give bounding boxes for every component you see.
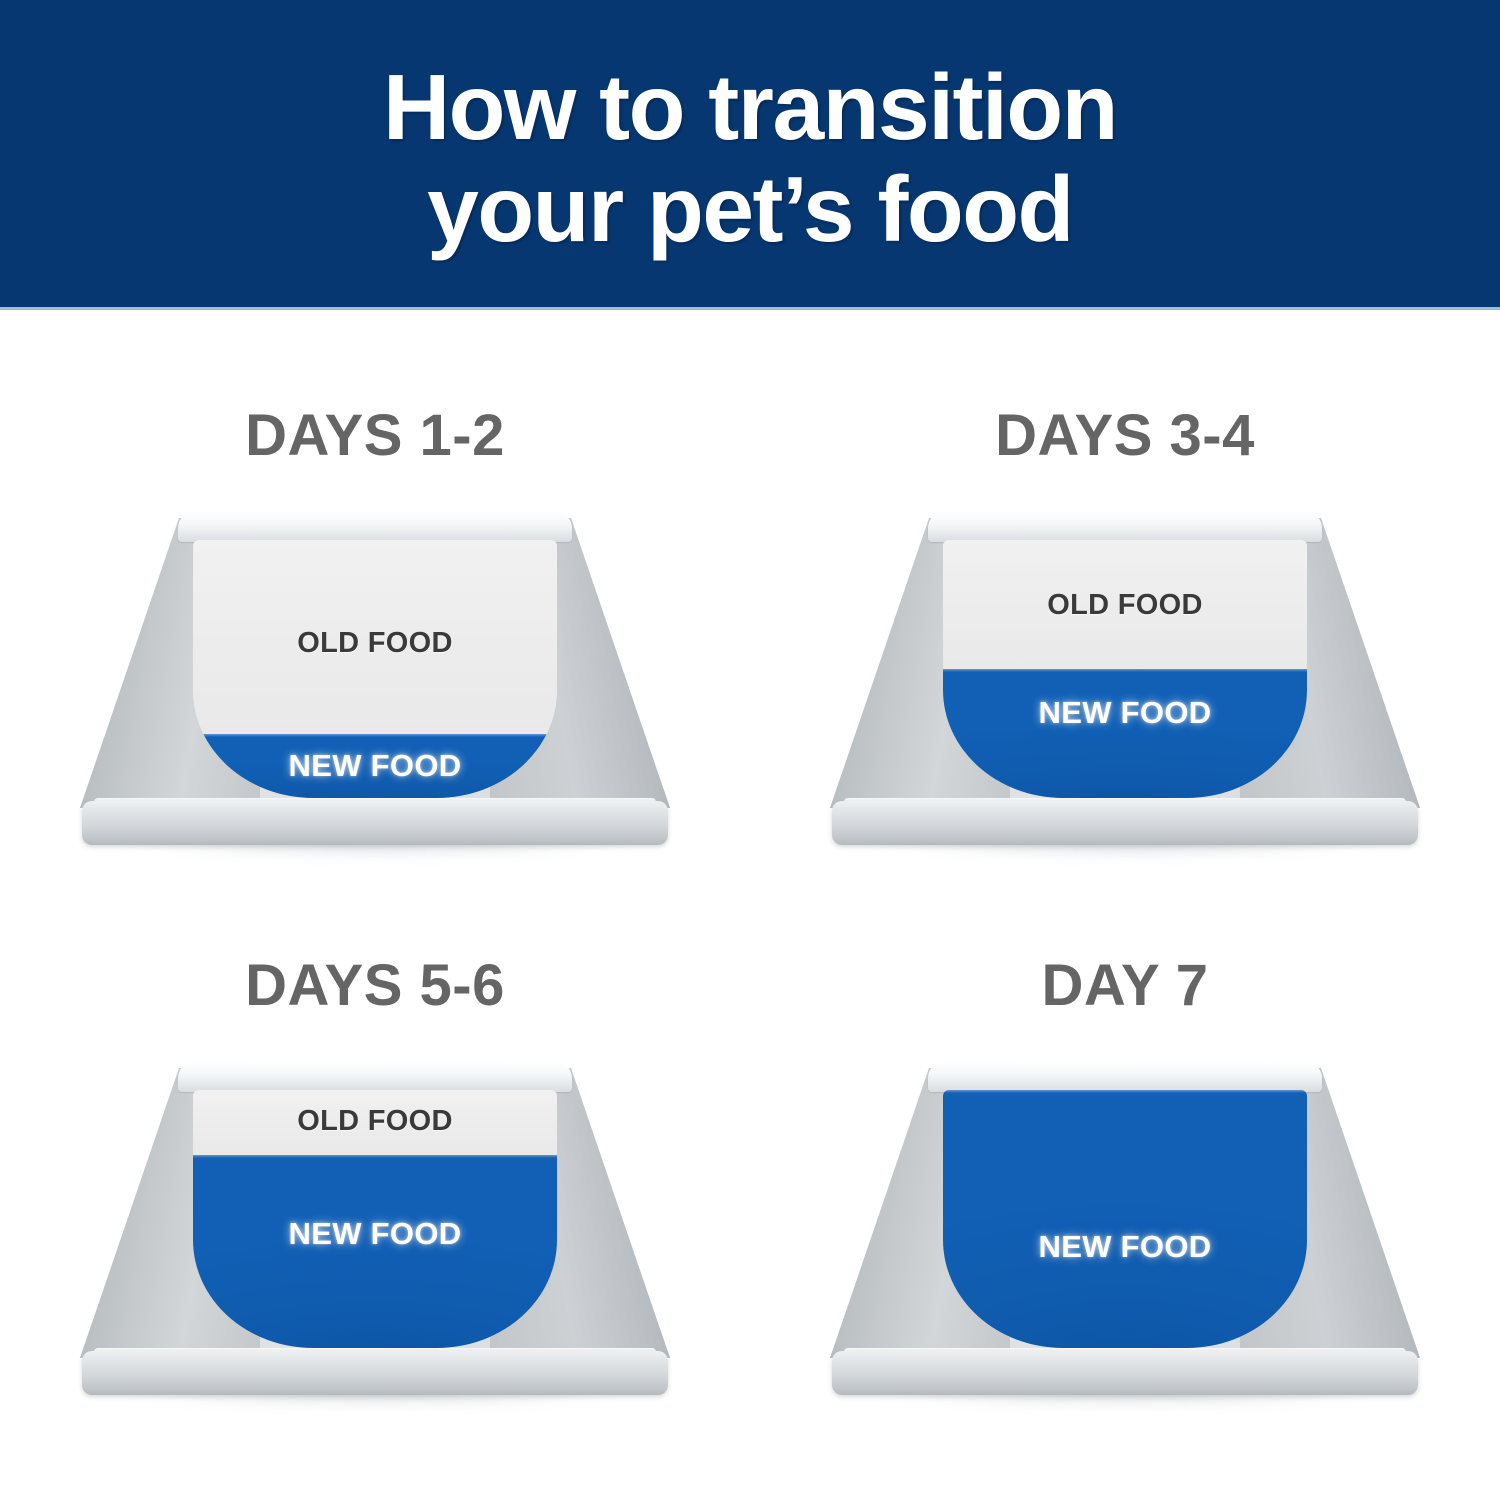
new-food-label: NEW FOOD [193, 1216, 557, 1252]
bowl-top-rim [928, 512, 1322, 542]
transition-steps-grid: DAYS 1-2 OLD FOOD NEW FOOD [0, 310, 1500, 1500]
new-food-layer: NEW FOOD [943, 1090, 1307, 1348]
old-food-layer: OLD FOOD [193, 1090, 557, 1155]
old-food-label: OLD FOOD [943, 589, 1307, 622]
page-title: How to transition your pet’s food [0, 56, 1500, 260]
food-bowl: OLD FOOD NEW FOOD [830, 500, 1420, 845]
new-food-label: NEW FOOD [943, 695, 1307, 731]
old-food-label: OLD FOOD [193, 627, 557, 660]
food-well: NEW FOOD [943, 1090, 1307, 1348]
step-heading: DAYS 1-2 [0, 405, 750, 467]
food-well: OLD FOOD NEW FOOD [943, 540, 1307, 798]
old-food-label: OLD FOOD [193, 1105, 557, 1138]
food-bowl: NEW FOOD [830, 1050, 1420, 1395]
bowl-top-rim [178, 512, 572, 542]
step-card-days-3-4: DAYS 3-4 OLD FOOD NEW FOOD [750, 405, 1500, 965]
food-bowl: OLD FOOD NEW FOOD [80, 500, 670, 845]
bowl-top-rim [928, 1062, 1322, 1092]
new-food-layer: NEW FOOD [193, 734, 557, 799]
new-food-label: NEW FOOD [943, 1229, 1307, 1265]
bowl-base [832, 1351, 1418, 1395]
header-band: How to transition your pet’s food [0, 0, 1500, 307]
food-well: OLD FOOD NEW FOOD [193, 540, 557, 798]
step-card-days-5-6: DAYS 5-6 OLD FOOD NEW FOOD [0, 955, 750, 1500]
bowl-base [82, 801, 668, 845]
step-heading: DAY 7 [750, 955, 1500, 1017]
old-food-layer: OLD FOOD [193, 540, 557, 734]
bowl-top-rim [178, 1062, 572, 1092]
new-food-label: NEW FOOD [193, 748, 557, 784]
step-card-days-1-2: DAYS 1-2 OLD FOOD NEW FOOD [0, 405, 750, 965]
step-heading: DAYS 3-4 [750, 405, 1500, 467]
new-food-layer: NEW FOOD [943, 669, 1307, 798]
step-card-day-7: DAY 7 NEW FOOD [750, 955, 1500, 1500]
bowl-base [82, 1351, 668, 1395]
bowl-base [832, 801, 1418, 845]
infographic-page: How to transition your pet’s food DAYS 1… [0, 0, 1500, 1500]
new-food-layer: NEW FOOD [193, 1155, 557, 1349]
step-heading: DAYS 5-6 [0, 955, 750, 1017]
food-well: OLD FOOD NEW FOOD [193, 1090, 557, 1348]
food-bowl: OLD FOOD NEW FOOD [80, 1050, 670, 1395]
old-food-layer: OLD FOOD [943, 540, 1307, 669]
